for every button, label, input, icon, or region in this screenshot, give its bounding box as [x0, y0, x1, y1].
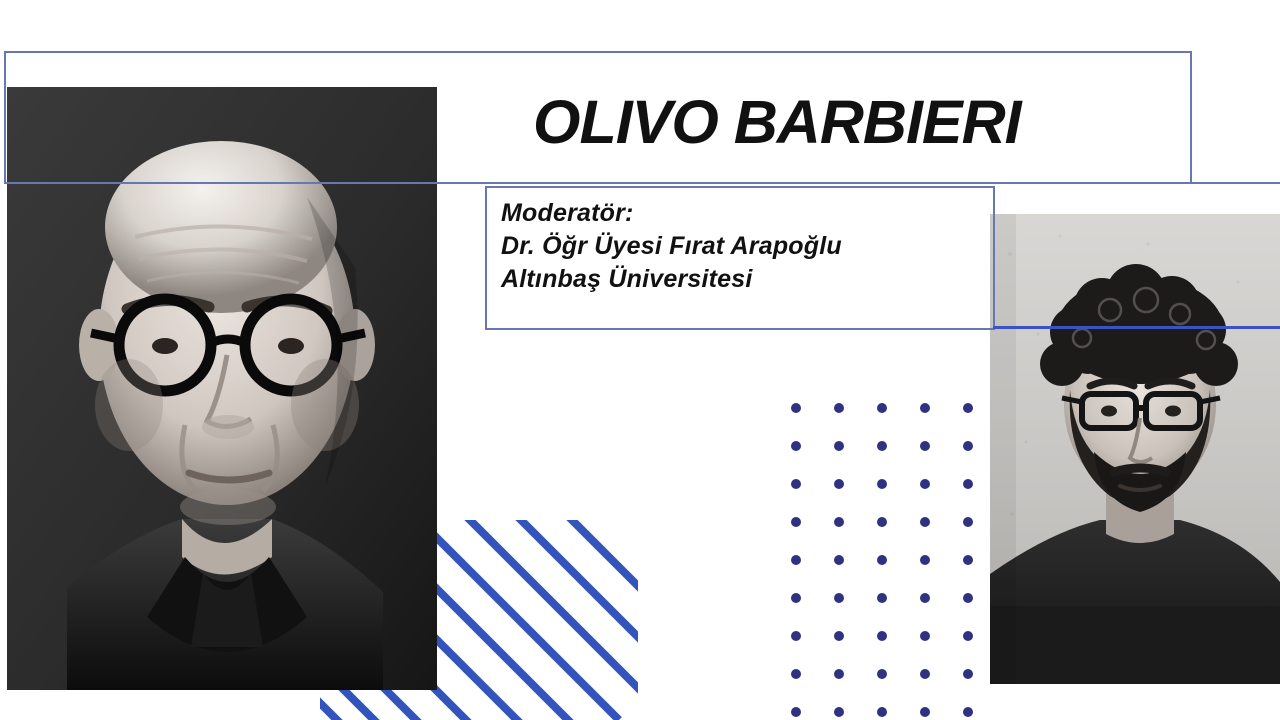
moderator-frame-rule-extension — [993, 326, 1280, 329]
poster-canvas: OLIVO BARBIERI — [0, 0, 1280, 720]
page-title: OLIVO BARBIERI — [533, 88, 1021, 156]
speaker-portrait-left-image — [7, 87, 437, 690]
moderator-portrait-right — [990, 214, 1280, 684]
moderator-affiliation: Altınbaş Üniversitesi — [501, 263, 842, 296]
headline-frame-rule-extension — [1190, 182, 1280, 184]
speaker-portrait-left — [7, 87, 437, 690]
dot-grid-decoration — [788, 400, 984, 720]
moderator-name: Dr. Öğr Üyesi Fırat Arapoğlu — [501, 230, 842, 263]
dot-grid-svg — [788, 400, 984, 720]
moderator-block: Moderatör: Dr. Öğr Üyesi Fırat Arapoğlu … — [501, 197, 842, 296]
moderator-portrait-right-image — [990, 214, 1280, 684]
moderator-label: Moderatör: — [501, 197, 842, 230]
